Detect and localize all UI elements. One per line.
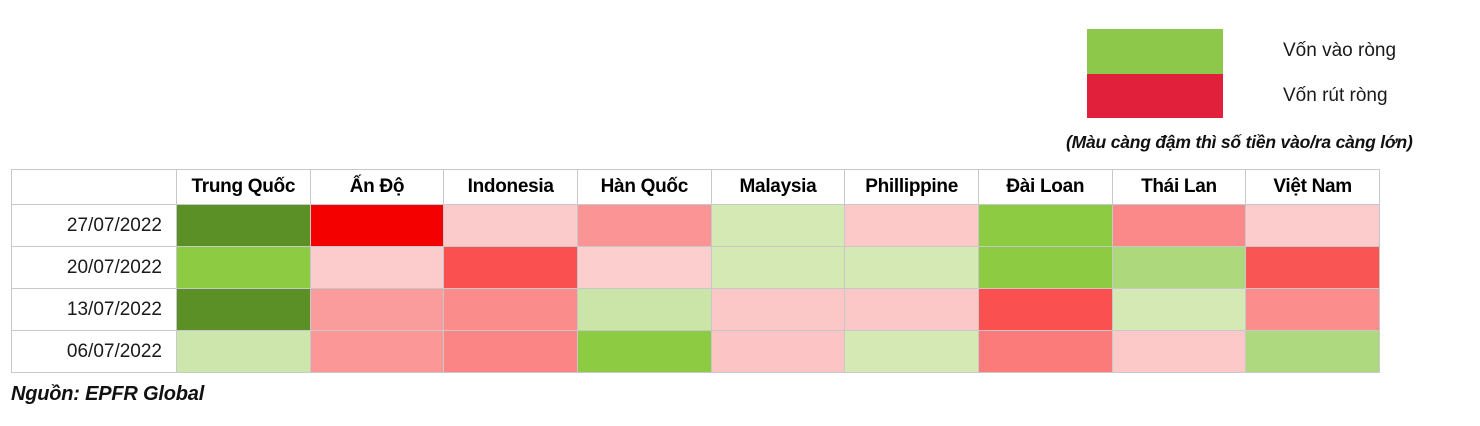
heatmap-cell-r2-c5 [845,289,979,331]
heatmap-cell-r0-c3 [577,205,711,247]
heatmap-cell-r0-c0 [177,205,311,247]
heatmap-cell-r2-c7 [1112,289,1246,331]
table-row: 13/07/2022 [12,289,1380,331]
heatmap-cell-r1-c6 [978,247,1112,289]
column-header-5: Phillippine [845,170,979,205]
column-header-2: Indonesia [444,170,578,205]
table-header-row: Trung QuốcẤn ĐộIndonesiaHàn QuốcMalaysia… [12,170,1380,205]
heatmap-cell-r1-c7 [1112,247,1246,289]
capital-flow-heatmap-table: Trung QuốcẤn ĐộIndonesiaHàn QuốcMalaysia… [11,169,1380,373]
row-date-label: 06/07/2022 [12,331,177,373]
column-header-6: Đài Loan [978,170,1112,205]
heatmap-cell-r0-c4 [711,205,845,247]
heatmap-cell-r1-c5 [845,247,979,289]
heatmap-cell-r3-c1 [310,331,444,373]
heatmap-cell-r1-c4 [711,247,845,289]
table-row: 27/07/2022 [12,205,1380,247]
source-note: Nguồn: EPFR Global [11,383,204,406]
legend-swatch-net-outflow [1087,74,1223,119]
legend-note: (Màu càng đậm thì số tiền vào/ra càng lớ… [1066,132,1413,153]
row-date-label: 27/07/2022 [12,205,177,247]
heatmap-cell-r2-c3 [577,289,711,331]
column-header-0: Trung Quốc [177,170,311,205]
legend-labels: Vốn vào ròng Vốn rút ròng [1283,29,1480,118]
table-row: 06/07/2022 [12,331,1380,373]
heatmap-cell-r0-c7 [1112,205,1246,247]
column-header-7: Thái Lan [1112,170,1246,205]
heatmap-cell-r0-c1 [310,205,444,247]
legend: Vốn vào ròng Vốn rút ròng (Màu càng đậm … [1087,29,1467,149]
heatmap-cell-r3-c7 [1112,331,1246,373]
heatmap-cell-r1-c2 [444,247,578,289]
heatmap-cell-r3-c0 [177,331,311,373]
table-corner-cell [12,170,177,205]
heatmap-cell-r0-c5 [845,205,979,247]
heatmap-cell-r1-c1 [310,247,444,289]
table-row: 20/07/2022 [12,247,1380,289]
heatmap-cell-r3-c2 [444,331,578,373]
legend-label-net-inflow: Vốn vào ròng [1283,29,1480,74]
heatmap-cell-r0-c2 [444,205,578,247]
legend-swatch-net-inflow [1087,29,1223,74]
legend-swatches [1087,29,1223,118]
row-date-label: 20/07/2022 [12,247,177,289]
heatmap-cell-r1-c8 [1246,247,1380,289]
heatmap-cell-r0-c8 [1246,205,1380,247]
legend-label-net-outflow: Vốn rút ròng [1283,74,1480,119]
row-date-label: 13/07/2022 [12,289,177,331]
heatmap-cell-r1-c0 [177,247,311,289]
column-header-3: Hàn Quốc [577,170,711,205]
heatmap-cell-r1-c3 [577,247,711,289]
column-header-8: Việt Nam [1246,170,1380,205]
heatmap-cell-r2-c1 [310,289,444,331]
table-body: 27/07/202220/07/202213/07/202206/07/2022 [12,205,1380,373]
heatmap-cell-r3-c6 [978,331,1112,373]
column-header-1: Ấn Độ [310,170,444,205]
heatmap-cell-r2-c6 [978,289,1112,331]
table-header: Trung QuốcẤn ĐộIndonesiaHàn QuốcMalaysia… [12,170,1380,205]
heatmap-cell-r2-c8 [1246,289,1380,331]
column-header-4: Malaysia [711,170,845,205]
heatmap-cell-r2-c0 [177,289,311,331]
heatmap-cell-r3-c8 [1246,331,1380,373]
heatmap-cell-r3-c4 [711,331,845,373]
heatmap-cell-r0-c6 [978,205,1112,247]
heatmap-cell-r2-c4 [711,289,845,331]
heatmap-cell-r2-c2 [444,289,578,331]
heatmap-cell-r3-c5 [845,331,979,373]
heatmap-cell-r3-c3 [577,331,711,373]
